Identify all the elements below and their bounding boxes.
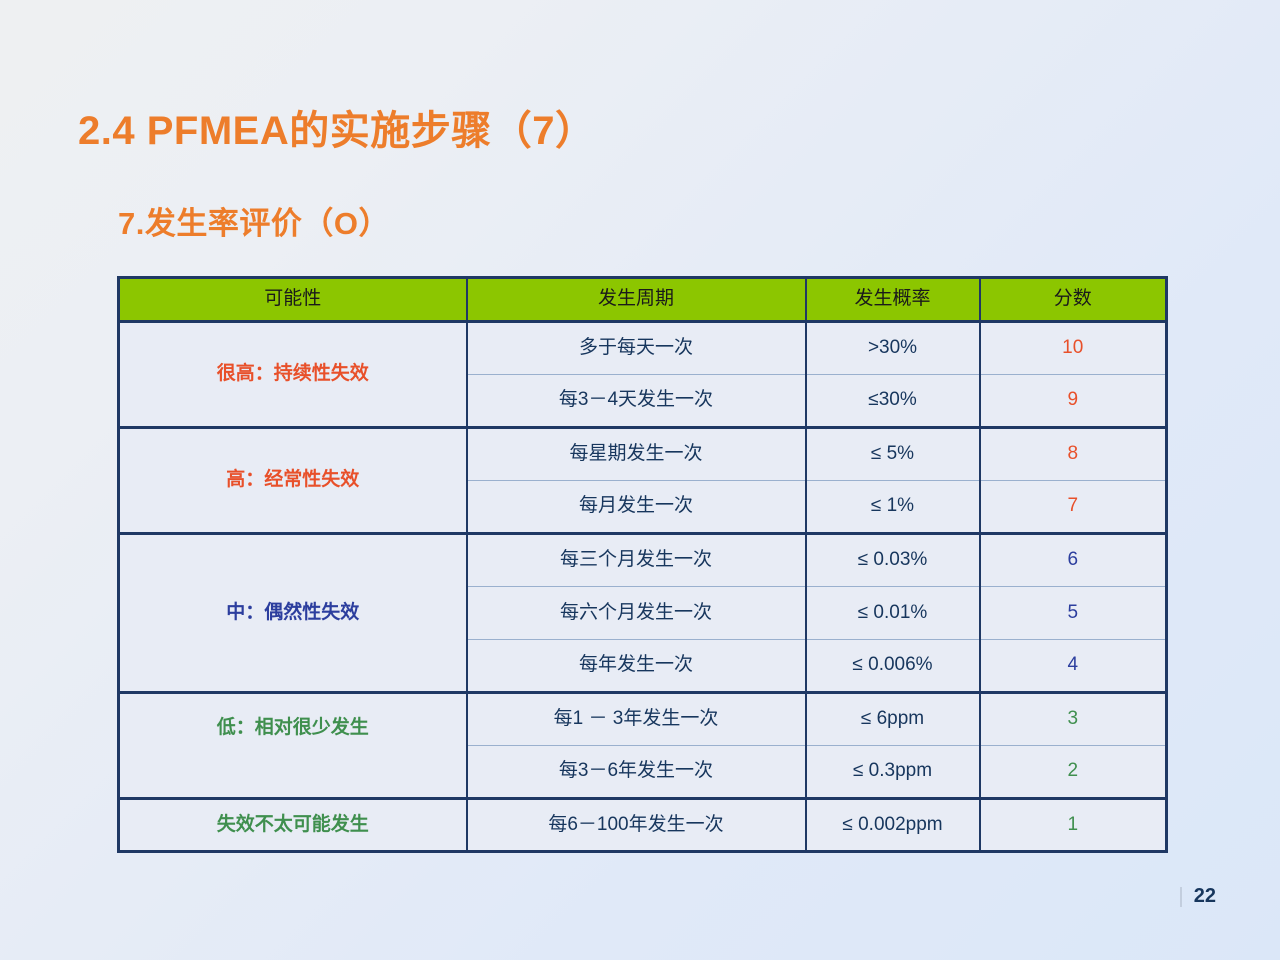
cell-occurrence-period: 每三个月发生一次 <box>467 534 806 587</box>
cell-score: 6 <box>980 534 1167 587</box>
column-header-likelihood: 可能性 <box>119 278 467 322</box>
column-header-score: 分数 <box>980 278 1167 322</box>
cell-score: 9 <box>980 375 1167 428</box>
cell-occurrence-probability: >30% <box>806 322 980 375</box>
cell-score: 10 <box>980 322 1167 375</box>
cell-likelihood-category: 高：经常性失效 <box>119 428 467 534</box>
cell-occurrence-period: 每月发生一次 <box>467 481 806 534</box>
cell-occurrence-period: 每年发生一次 <box>467 640 806 693</box>
cell-occurrence-probability: ≤ 0.002ppm <box>806 799 980 852</box>
cell-occurrence-period: 每6－100年发生一次 <box>467 799 806 852</box>
cell-likelihood-category: 很高：持续性失效 <box>119 322 467 428</box>
page-number: 22 <box>1194 885 1216 908</box>
cell-occurrence-probability: ≤ 6ppm <box>806 693 980 746</box>
column-header-probability: 发生概率 <box>806 278 980 322</box>
cell-occurrence-probability: ≤ 0.006% <box>806 640 980 693</box>
table-row: 低：相对很少发生每1 － 3年发生一次≤ 6ppm3 <box>119 693 1167 746</box>
table-header-row: 可能性 发生周期 发生概率 分数 <box>119 278 1167 322</box>
table-row: 高：经常性失效每星期发生一次≤ 5%8 <box>119 428 1167 481</box>
footer-divider-icon <box>1180 887 1182 907</box>
cell-score: 7 <box>980 481 1167 534</box>
cell-score: 3 <box>980 693 1167 746</box>
cell-occurrence-period: 多于每天一次 <box>467 322 806 375</box>
cell-score: 5 <box>980 587 1167 640</box>
cell-occurrence-probability: ≤ 0.01% <box>806 587 980 640</box>
cell-occurrence-probability: ≤ 5% <box>806 428 980 481</box>
cell-occurrence-probability: ≤30% <box>806 375 980 428</box>
table-row: 中：偶然性失效每三个月发生一次≤ 0.03%6 <box>119 534 1167 587</box>
cell-occurrence-probability: ≤ 0.03% <box>806 534 980 587</box>
cell-likelihood-category: 中：偶然性失效 <box>119 534 467 693</box>
section-subtitle: 7.发生率评价（O） <box>118 198 390 243</box>
cell-likelihood-category: 低：相对很少发生 <box>119 693 467 799</box>
occurrence-rating-table: 可能性 发生周期 发生概率 分数 很高：持续性失效多于每天一次>30%10每3－… <box>117 276 1168 853</box>
cell-occurrence-period: 每3－6年发生一次 <box>467 746 806 799</box>
cell-score: 8 <box>980 428 1167 481</box>
page-title: 2.4 PFMEA的实施步骤（7） <box>78 98 595 156</box>
table-row: 失效不太可能发生每6－100年发生一次≤ 0.002ppm1 <box>119 799 1167 852</box>
cell-occurrence-period: 每3－4天发生一次 <box>467 375 806 428</box>
table-row: 很高：持续性失效多于每天一次>30%10 <box>119 322 1167 375</box>
cell-occurrence-period: 每星期发生一次 <box>467 428 806 481</box>
cell-score: 2 <box>980 746 1167 799</box>
cell-score: 1 <box>980 799 1167 852</box>
cell-occurrence-probability: ≤ 1% <box>806 481 980 534</box>
table-header: 可能性 发生周期 发生概率 分数 <box>119 278 1167 322</box>
occurrence-rating-table-container: 可能性 发生周期 发生概率 分数 很高：持续性失效多于每天一次>30%10每3－… <box>117 276 1165 853</box>
column-header-period: 发生周期 <box>467 278 806 322</box>
slide-canvas: 2.4 PFMEA的实施步骤（7） 7.发生率评价（O） 可能性 发生周期 发生… <box>0 0 1280 960</box>
cell-occurrence-probability: ≤ 0.3ppm <box>806 746 980 799</box>
table-body: 很高：持续性失效多于每天一次>30%10每3－4天发生一次≤30%9高：经常性失… <box>119 322 1167 852</box>
cell-occurrence-period: 每1 － 3年发生一次 <box>467 693 806 746</box>
cell-score: 4 <box>980 640 1167 693</box>
slide-footer: 22 <box>1180 885 1216 908</box>
cell-occurrence-period: 每六个月发生一次 <box>467 587 806 640</box>
cell-likelihood-category: 失效不太可能发生 <box>119 799 467 852</box>
